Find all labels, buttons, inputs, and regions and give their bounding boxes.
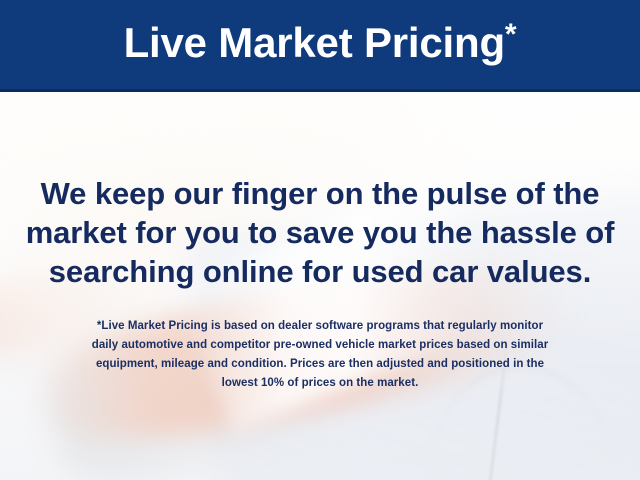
disclaimer-line: *Live Market Pricing is based on dealer …: [20, 317, 620, 336]
tagline: We keep our finger on the pulse of the m…: [0, 174, 640, 291]
page-title-footnote-marker: *: [505, 18, 516, 51]
disclaimer-line: daily automotive and competitor pre-owne…: [20, 336, 620, 355]
content-area: We keep our finger on the pulse of the m…: [0, 89, 640, 480]
header-banner: Live Market Pricing*: [0, 0, 640, 92]
disclaimer-text: *Live Market Pricing is based on dealer …: [20, 317, 620, 393]
disclaimer-line: lowest 10% of prices on the market.: [20, 374, 620, 393]
live-market-pricing-card: Live Market Pricing* We keep our finger …: [0, 0, 640, 480]
tagline-line: We keep our finger on the pulse of the: [0, 174, 640, 213]
disclaimer-line: equipment, mileage and condition. Prices…: [20, 355, 620, 374]
page-title: Live Market Pricing*: [124, 22, 517, 64]
tagline-line: searching online for used car values.: [0, 252, 640, 291]
tagline-line: market for you to save you the hassle of: [0, 213, 640, 252]
page-title-text: Live Market Pricing: [124, 19, 505, 66]
